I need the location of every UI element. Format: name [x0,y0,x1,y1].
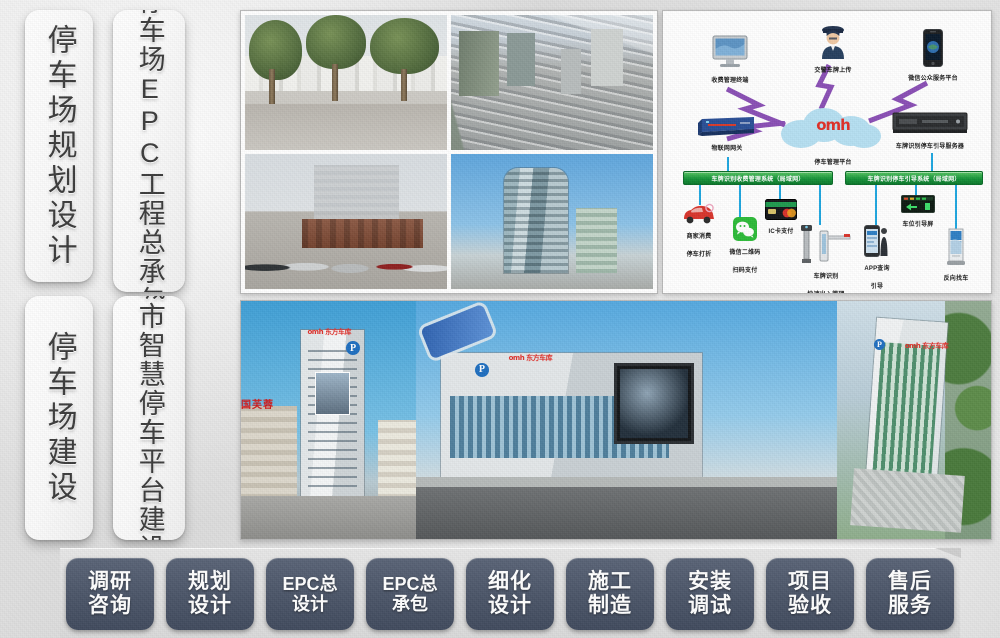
step-button-detailed-design[interactable]: 细化 设计 [466,558,554,630]
network-gateway-icon [696,115,758,137]
parking-p-badge: P [874,339,885,350]
node-label: 交警车牌上传 [814,68,851,74]
cloud-platform-shape: omh [781,106,885,150]
step-label: 规划 设计 [188,570,232,617]
parked-cars-shape [245,243,447,284]
tree-shape [306,15,367,69]
service-card-parking-planning[interactable]: 停车场规划设计 [25,10,93,282]
signage-text: 国芙蓉 [241,396,274,411]
node-label: 车牌识别停车引导服务器 [896,144,964,150]
project-photo-panel [240,10,658,294]
node-reverse-car-finding: 反向找车 [929,227,983,285]
plaza-ground-shape [851,469,966,534]
node-label: 物联网网关 [711,146,742,152]
step-button-epc-design[interactable]: EPC总 设计 [266,558,354,630]
omh-brand-logo: omh [809,116,857,134]
subsystem-bar-label: 车牌识别收费管理系统（局域网） [711,174,804,183]
tower-facade-stripes [308,349,357,487]
node-label: 收费管理终端 [711,78,748,84]
step-label: 调研 咨询 [88,570,132,617]
kiosk-icon [944,227,968,267]
brand-logo: omh 东方车库 [509,353,553,363]
mobile-app-icon [864,225,890,257]
photo-brick-building-lot [245,154,447,289]
tree-trunk-shape [401,69,407,101]
step-button-after-sales-service[interactable]: 售后 服务 [866,558,954,630]
step-button-installation-commissioning[interactable]: 安装 调试 [666,558,754,630]
node-parking-platform: 停车管理平台 [775,151,891,169]
connector-line [699,185,701,205]
subsystem-bar-toll-management[interactable]: 车牌识别收费管理系统（局域网） [683,171,833,185]
node-lpr-guidance-server: 车牌识别停车引导服务器 [871,111,989,153]
wechat-icon [733,217,757,241]
node-label: 停车管理平台 [814,160,851,166]
photo-grid [245,15,653,289]
curb-shape [416,477,837,487]
service-card-epc-contracting[interactable]: 停车场EPC工程总承包 [113,10,185,292]
node-iot-gateway: 物联网网关 [679,115,775,155]
tree-shape [370,18,439,75]
subsystem-bar-label: 车牌识别停车引导系统（局域网） [867,174,960,183]
traffic-police-icon [818,25,848,59]
smartphone-icon [923,29,943,67]
slide-canvas: 停车场规划设计 停车场EPC工程总承包 停车场建设 城市智慧停车平台建设 [0,0,1000,638]
green-glass-facade-shape [873,342,940,474]
system-topology-diagram: omh 停车管理平台 收费管理终端 [662,10,992,294]
photo-street-parking [245,15,447,150]
tree-shape [249,20,302,79]
parking-p-badge: P [475,363,489,377]
architecture-render-strip: P omh 东方车库 国芙蓉 P omh 东方车库 P omh 东方车库 [240,300,992,540]
step-label: 售后 服务 [888,570,932,617]
service-card-label: 停车场EPC工程总承包 [132,10,165,292]
step-label: EPC总 承包 [382,574,437,614]
photo-aerial-lot [451,15,653,150]
facade-billboard-shape [315,372,350,415]
red-car-icon [682,203,716,225]
tree-trunk-shape [269,69,275,104]
render-parking-tower-1: P omh 东方车库 国芙蓉 [241,301,416,539]
blue-car-graphic [421,304,496,360]
photo-glass-tower [451,154,653,289]
connector-line [931,153,933,171]
brand-logo: omh 东方车库 [905,341,949,351]
node-label: APP查询 引导 预约 [864,266,889,294]
step-label: EPC总 设计 [282,574,337,614]
step-button-construction-manufacturing[interactable]: 施工 制造 [566,558,654,630]
service-card-parking-construction[interactable]: 停车场建设 [25,296,93,540]
service-card-label: 城市智慧停车平台建设 [132,296,165,540]
node-traffic-police-upload: 交警车牌上传 [781,25,885,77]
step-button-research-consulting[interactable]: 调研 咨询 [66,558,154,630]
connector-line [739,185,741,219]
tree-trunk-shape [332,64,338,102]
street-ground-shape [241,496,416,539]
step-button-planning-design[interactable]: 规划 设计 [166,558,254,630]
barrier-gate-icon [800,223,852,265]
connector-line [727,157,729,171]
led-guide-screen-icon [901,195,935,213]
service-card-smart-platform[interactable]: 城市智慧停车平台建设 [113,296,185,540]
process-step-bar: 调研 咨询 规划 设计 EPC总 设计 EPC总 承包 细化 设计 施工 制造 … [60,556,960,632]
node-wechat-service-platform: 微信公众服务平台 [881,29,985,85]
render-aerial-tower-3: P omh 东方车库 [837,301,991,539]
brand-logo: omh 东方车库 [308,327,352,337]
credit-card-icon [765,199,797,220]
step-label: 施工 制造 [588,570,632,617]
desktop-monitor-icon [710,35,750,69]
node-app-query-booking: APP查询 引导 预约 [849,225,905,294]
node-label: 微信二维码 扫码支付 [729,250,760,274]
node-label: 车牌识别 快速出入管理 [807,274,844,294]
step-label: 安装 调试 [688,570,732,617]
node-label: IC卡支付 [768,229,793,235]
node-label: 微信公众服务平台 [908,76,958,82]
led-billboard-shape [614,363,694,444]
service-card-label: 停车场规划设计 [40,24,77,269]
subsystem-bar-parking-guidance[interactable]: 车牌识别停车引导系统（局域网） [845,171,983,185]
road-shape [416,487,837,539]
service-card-label: 停车场建设 [40,331,77,506]
node-label: 商家消费 停车打折 [687,234,712,258]
side-building-shape [241,406,297,511]
connector-line [955,185,957,229]
step-button-project-acceptance[interactable]: 项目 验收 [766,558,854,630]
connector-line [819,185,821,225]
step-button-epc-contracting[interactable]: EPC总 承包 [366,558,454,630]
rack-server-icon [892,111,968,135]
connector-line [875,185,877,227]
step-label: 项目 验收 [788,570,832,617]
node-label: 反向找车 [944,276,969,282]
render-parking-garage-2: P omh 东方车库 [416,301,837,539]
step-label: 细化 设计 [488,570,532,617]
node-toll-terminal: 收费管理终端 [685,35,775,87]
